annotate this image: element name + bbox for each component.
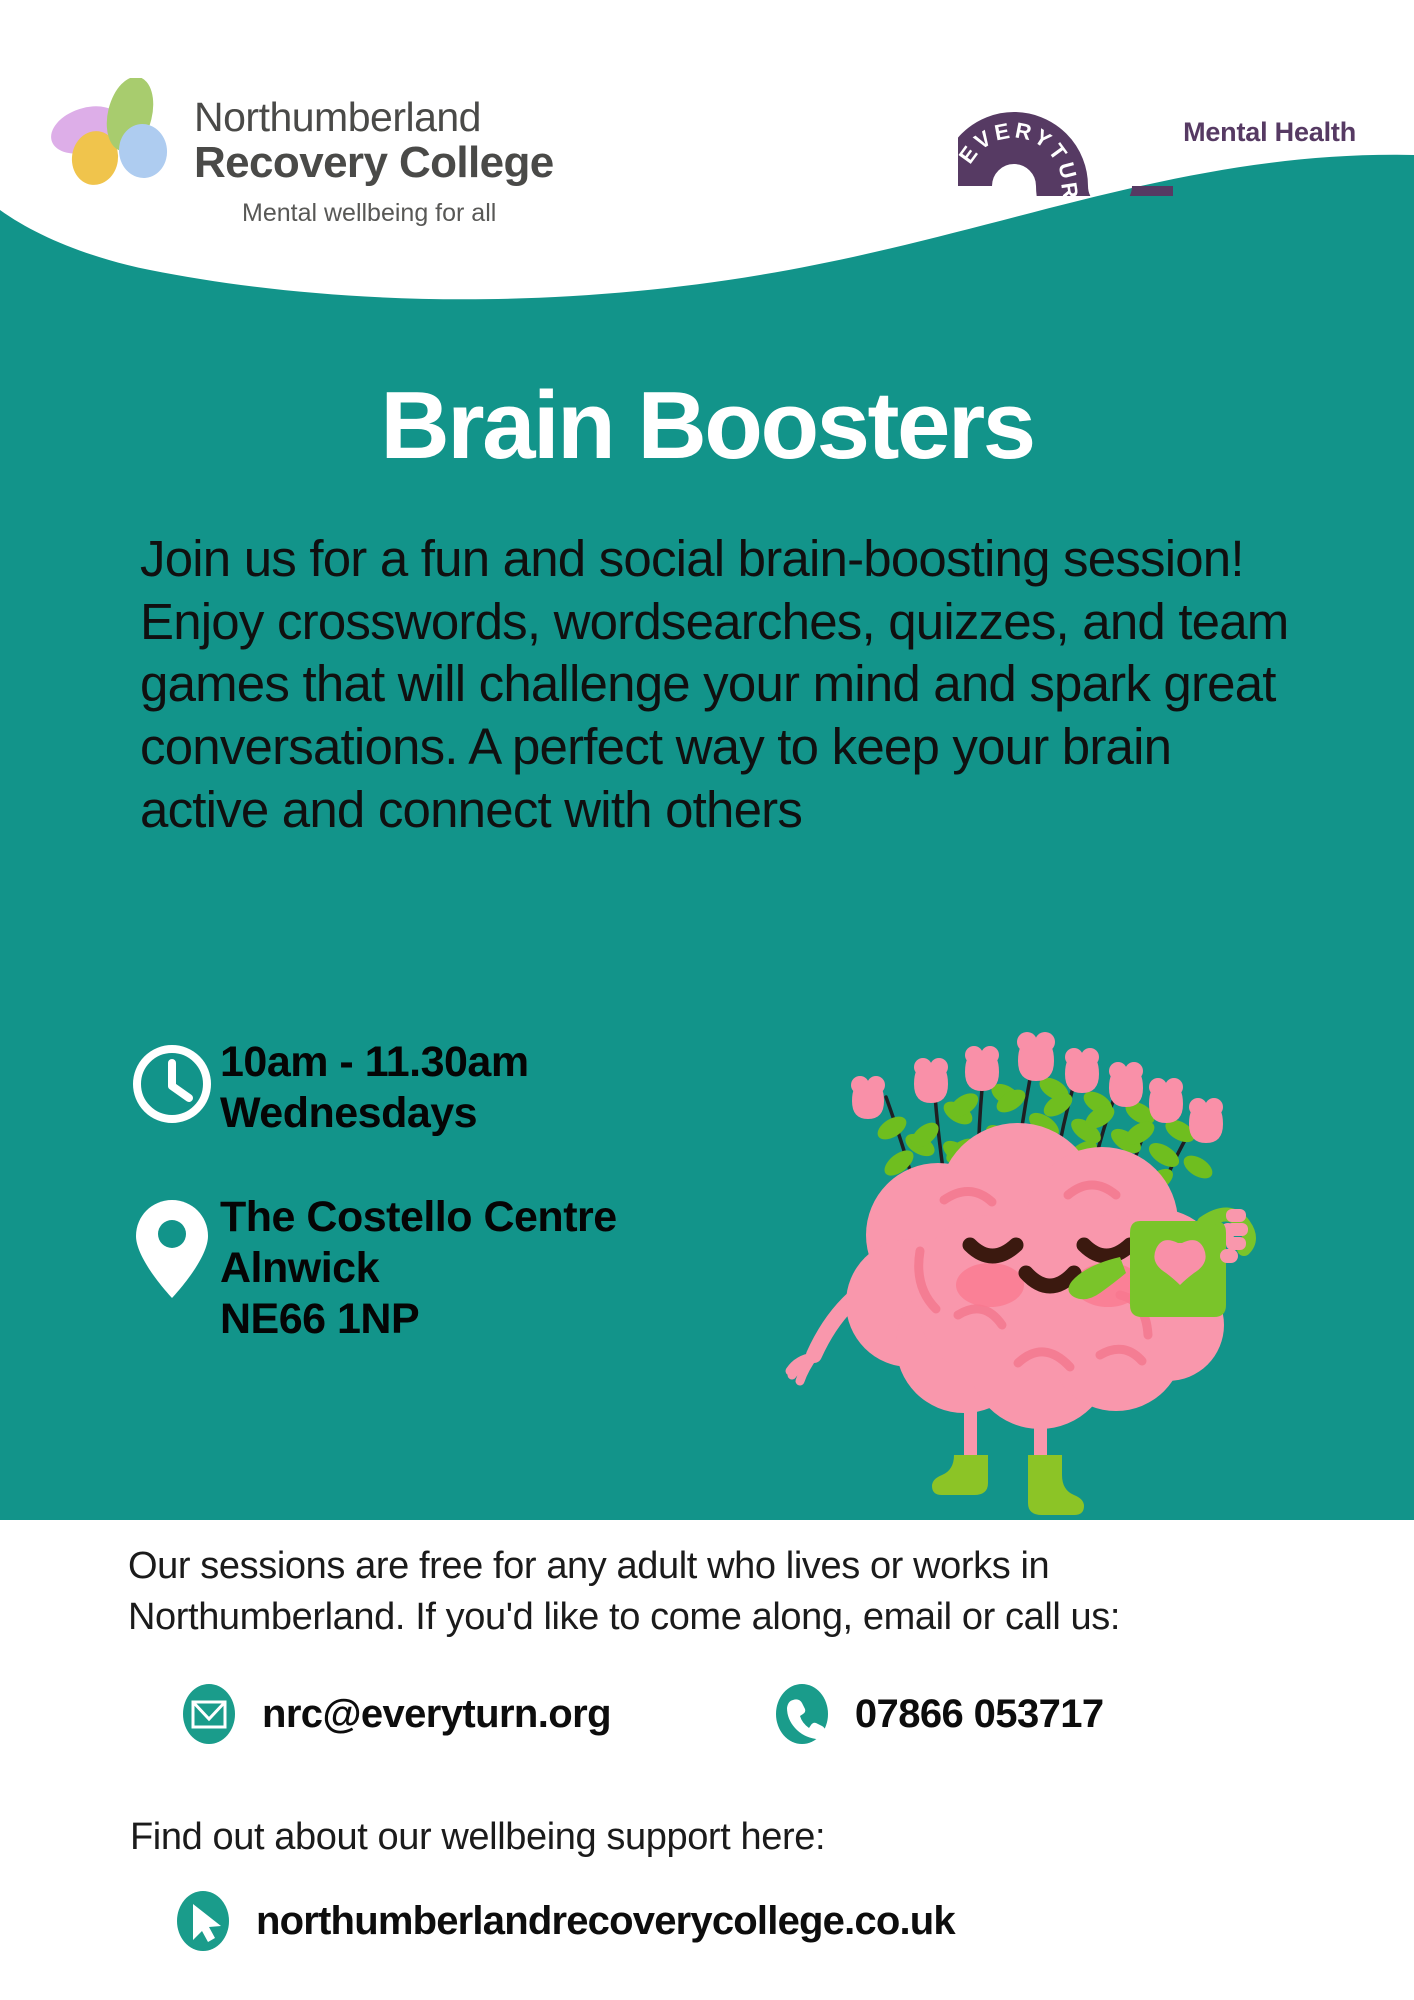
logo-line-2: Recovery College <box>194 139 554 187</box>
location-pin-icon <box>132 1196 212 1302</box>
location-pin-icon-wrap <box>124 1190 220 1302</box>
clock-icon-wrap <box>124 1035 220 1127</box>
footer-note: Our sessions are free for any adult who … <box>128 1541 1308 1643</box>
everyturn-logo: EVERYTURN Mental Health <box>958 68 1356 196</box>
contact-row: nrc@everyturn.org 07866 053717 <box>178 1683 1104 1745</box>
detail-row-time: 10am - 11.30am Wednesdays <box>124 1035 617 1138</box>
phone-number[interactable]: 07866 053717 <box>855 1692 1104 1737</box>
phone-icon <box>771 1683 833 1745</box>
website-row[interactable]: northumberlandrecoverycollege.co.uk <box>172 1890 955 1952</box>
clock-icon <box>129 1041 215 1127</box>
header: Northumberland Recovery College Mental w… <box>0 0 1414 300</box>
cursor-pointer-icon <box>172 1890 234 1952</box>
time-line-1: 10am - 11.30am <box>220 1037 529 1088</box>
logo-tagline: Mental wellbeing for all <box>242 199 554 228</box>
location-line-1: The Costello Centre <box>220 1192 617 1243</box>
email-address[interactable]: nrc@everyturn.org <box>262 1692 611 1737</box>
logo-line-1: Northumberland <box>194 96 554 139</box>
intro-paragraph: Join us for a fun and social brain-boost… <box>140 528 1300 842</box>
page-title: Brain Boosters <box>0 378 1414 474</box>
everyturn-mental-health-label: Mental Health <box>1183 117 1356 148</box>
email-icon <box>178 1683 240 1745</box>
email-contact[interactable]: nrc@everyturn.org <box>178 1683 611 1745</box>
session-details: 10am - 11.30am Wednesdays The Costello C… <box>124 1035 617 1397</box>
brain-character-illustration <box>768 985 1288 1525</box>
time-text: 10am - 11.30am Wednesdays <box>220 1035 529 1138</box>
left-cheek <box>956 1263 1024 1307</box>
website-url[interactable]: northumberlandrecoverycollege.co.uk <box>256 1899 955 1944</box>
northumberland-recovery-college-logo: Northumberland Recovery College Mental w… <box>48 78 554 228</box>
poster: Northumberland Recovery College Mental w… <box>0 0 1414 2000</box>
everyturn-s-curve-icon: EVERYTURN <box>958 68 1173 196</box>
detail-row-location: The Costello Centre Alnwick NE66 1NP <box>124 1190 617 1344</box>
butterfly-logo-icon <box>48 78 178 193</box>
find-out-text: Find out about our wellbeing support her… <box>130 1816 825 1859</box>
phone-contact[interactable]: 07866 053717 <box>771 1683 1104 1745</box>
boots-group <box>932 1455 1084 1515</box>
location-line-2: Alnwick <box>220 1243 617 1294</box>
location-text: The Costello Centre Alnwick NE66 1NP <box>220 1190 617 1344</box>
time-line-2: Wednesdays <box>220 1088 529 1139</box>
location-line-3: NE66 1NP <box>220 1294 617 1345</box>
